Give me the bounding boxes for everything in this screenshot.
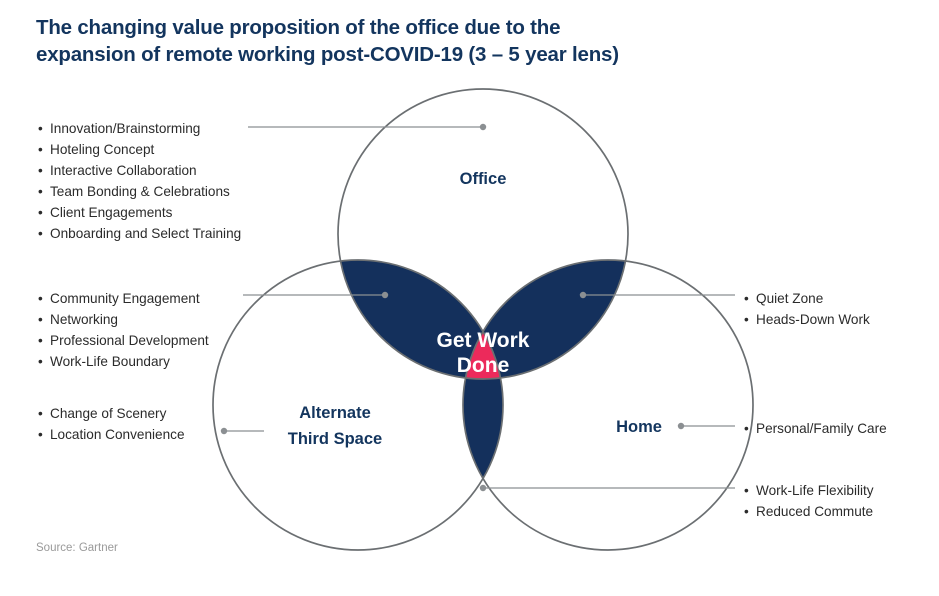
list-item: Personal/Family Care	[744, 419, 887, 440]
overlap-office-home	[463, 260, 753, 550]
list-item: Innovation/Brainstorming	[38, 119, 241, 140]
callout-list-home: Personal/Family Care	[744, 419, 887, 440]
list-item: Reduced Commute	[744, 502, 874, 523]
list-item: Work-Life Boundary	[38, 352, 209, 373]
list-item: Networking	[38, 310, 209, 331]
leader-dot-home	[678, 423, 684, 429]
leader-dot-office-home	[580, 292, 586, 298]
list-item: Community Engagement	[38, 289, 209, 310]
list-item: Hoteling Concept	[38, 140, 241, 161]
source-attribution: Source: Gartner	[36, 542, 118, 554]
callout-list-office: Innovation/Brainstorming Hoteling Concep…	[38, 119, 241, 244]
leader-dot-alternate	[221, 428, 227, 434]
list-item: Client Engagements	[38, 203, 241, 224]
list-item: Professional Development	[38, 331, 209, 352]
list-item: Heads-Down Work	[744, 310, 870, 331]
overlap-regions	[213, 260, 753, 550]
leader-dot-office	[480, 124, 486, 130]
list-item: Interactive Collaboration	[38, 161, 241, 182]
leader-dot-alternate-home	[480, 485, 486, 491]
callout-list-office-alternate-overlap: Community Engagement Networking Professi…	[38, 289, 209, 373]
list-item: Change of Scenery	[38, 404, 185, 425]
center-label-line-2: Done	[457, 354, 510, 377]
list-item: Location Convenience	[38, 425, 185, 446]
list-item: Work-Life Flexibility	[744, 481, 874, 502]
leader-dot-office-alternate	[382, 292, 388, 298]
list-item: Quiet Zone	[744, 289, 870, 310]
callout-list-alternate-home-overlap: Work-Life Flexibility Reduced Commute	[744, 481, 874, 523]
callout-list-alternate: Change of Scenery Location Convenience	[38, 404, 185, 446]
list-item: Team Bonding & Celebrations	[38, 182, 241, 203]
list-item: Onboarding and Select Training	[38, 224, 241, 245]
label-alternate-line-1: Alternate	[299, 404, 371, 422]
label-alternate-line-2: Third Space	[288, 430, 382, 448]
center-label-line-1: Get Work	[437, 329, 530, 352]
label-home: Home	[616, 418, 662, 436]
callout-list-office-home-overlap: Quiet Zone Heads-Down Work	[744, 289, 870, 331]
label-office: Office	[460, 170, 507, 188]
